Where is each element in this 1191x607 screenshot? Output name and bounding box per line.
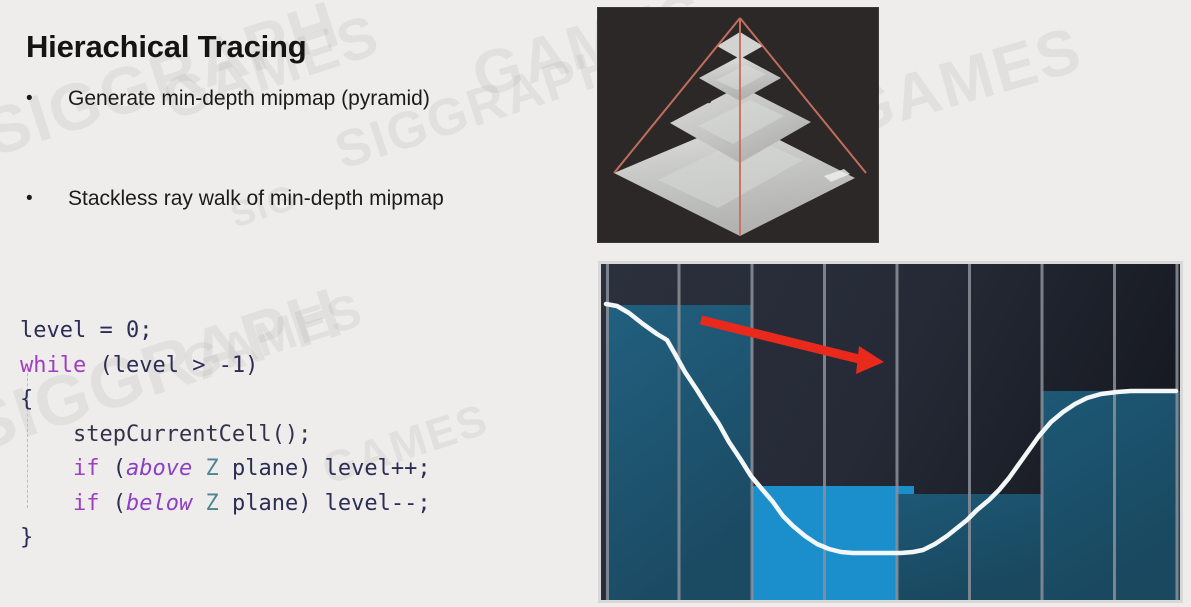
bullet-item-1: • Stackless ray walk of min-depth mipmap	[26, 186, 444, 212]
page-title: Hierachical Tracing	[26, 29, 307, 65]
code-token: if	[73, 456, 100, 481]
code-token: (	[99, 456, 126, 481]
code-token: if	[73, 491, 100, 516]
code-token: stepCurrentCell();	[73, 422, 311, 447]
code-token: (level > -1)	[86, 353, 258, 378]
code-token: plane) level--;	[219, 491, 431, 516]
code-line-0: level = 0;	[20, 314, 431, 349]
code-token: plane) level++;	[219, 456, 431, 481]
code-token: Z	[205, 491, 218, 516]
code-line-5: if (below Z plane) level--;	[20, 487, 431, 522]
stackless-ray-walk-figure	[598, 261, 1183, 603]
code-indent	[20, 422, 73, 447]
min-depth-mipmap-pyramid-figure	[598, 8, 878, 242]
code-snippet: level = 0;while (level > -1){ stepCurren…	[20, 314, 431, 556]
bullet-marker-icon: •	[26, 186, 42, 212]
code-token	[192, 456, 205, 481]
code-token: 0	[126, 318, 139, 343]
code-token: below	[126, 491, 192, 516]
bullet-marker-icon: •	[26, 86, 42, 112]
code-token: ;	[139, 318, 152, 343]
code-line-4: if (above Z plane) level++;	[20, 452, 431, 487]
presentation-slide: SIGGRAPH GAMES SIGGRAPH GAMES GAMES SIGG…	[0, 0, 1191, 607]
code-token: (	[99, 491, 126, 516]
code-line-6: }	[20, 521, 431, 556]
code-token: above	[126, 456, 192, 481]
code-line-2: {	[20, 383, 431, 418]
cell-bar	[1042, 391, 1180, 600]
code-token: }	[20, 525, 33, 550]
code-token	[192, 491, 205, 516]
code-indent	[20, 456, 73, 481]
bullet-label: Generate min-depth mipmap (pyramid)	[68, 86, 430, 112]
bullet-label: Stackless ray walk of min-depth mipmap	[68, 186, 444, 212]
pyramid-render-svg	[598, 8, 878, 242]
code-indent	[20, 491, 73, 516]
code-token: {	[20, 387, 33, 412]
code-token: Z	[205, 456, 218, 481]
code-line-3: stepCurrentCell();	[20, 418, 431, 453]
code-token: =	[86, 318, 126, 343]
heightfield-canvas	[601, 264, 1180, 600]
bullet-item-0: • Generate min-depth mipmap (pyramid)	[26, 86, 430, 112]
code-token: while	[20, 353, 86, 378]
heightfield-svg	[601, 264, 1180, 600]
slide-left-column: Hierachical Tracing • Generate min-depth…	[0, 0, 600, 607]
code-token: level	[20, 318, 86, 343]
code-line-1: while (level > -1)	[20, 349, 431, 384]
